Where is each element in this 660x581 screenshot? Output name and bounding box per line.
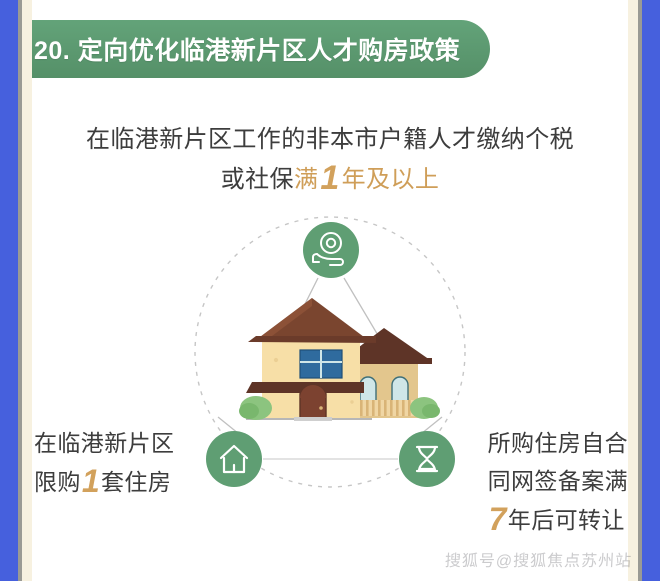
badge-bottom-left-home[interactable] — [206, 431, 262, 487]
intro-line2-gold-word: 满 — [294, 166, 318, 193]
caption-right-line-3: 7年后可转让 — [488, 500, 628, 539]
caption-right-line-1: 所购住房自合 — [488, 424, 628, 462]
badge-top-coin-in-hand[interactable] — [303, 222, 359, 278]
caption-left: 在临港新片区 限购1套住房 — [34, 424, 174, 501]
caption-right-number: 7 — [488, 501, 508, 537]
caption-left-line-1: 在临港新片区 — [34, 424, 174, 462]
caption-left-number: 1 — [81, 463, 101, 499]
house-illustration — [239, 298, 440, 421]
caption-right: 所购住房自合 同网签备案满 7年后可转让 — [488, 424, 628, 539]
house-door-knob — [319, 406, 323, 410]
caption-right-suffix: 年后可转让 — [508, 507, 625, 533]
page-edge-cream-right — [628, 0, 638, 581]
page-edge-cream-left — [22, 0, 32, 581]
page-edge-gray-left — [18, 0, 22, 581]
page-edge-blue-right — [642, 0, 660, 581]
badge-bottom-right-hourglass[interactable] — [399, 431, 455, 487]
intro-line-1: 在临港新片区工作的非本市户籍人才缴纳个税 — [22, 120, 638, 160]
intro-line2-number: 1 — [318, 159, 341, 197]
infographic-page: 20. 定向优化临港新片区人才购房政策 在临港新片区工作的非本市户籍人才缴纳个税… — [0, 0, 660, 581]
intro-line-2: 或社保满1年及以上 — [22, 160, 638, 200]
intro-line2-suffix: 年及以上 — [342, 166, 440, 193]
page-title: 20. 定向优化临港新片区人才购房政策 — [12, 31, 460, 67]
caption-left-suffix: 套住房 — [101, 469, 171, 495]
intro-text-block: 在临港新片区工作的非本市户籍人才缴纳个税 或社保满1年及以上 — [22, 120, 638, 200]
page-edge-blue-left — [0, 0, 18, 581]
caption-right-line-2: 同网签备案满 — [488, 462, 628, 500]
intro-line2-prefix: 或社保 — [221, 166, 294, 193]
house-fence — [352, 400, 414, 416]
watermark: 搜狐号@搜狐焦点苏州站 — [444, 547, 633, 571]
header-banner: 20. 定向优化临港新片区人才购房政策 — [12, 20, 490, 78]
caption-left-prefix: 限购 — [34, 469, 81, 495]
caption-left-line-2: 限购1套住房 — [34, 462, 174, 501]
